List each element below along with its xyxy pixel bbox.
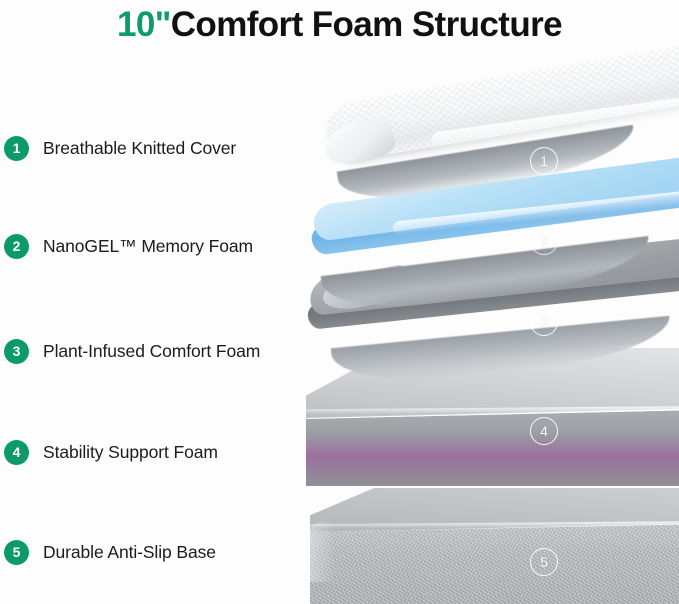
slab-badge-4: 4	[530, 417, 558, 445]
layer-4-front-face	[306, 410, 679, 486]
legend-item-3[interactable]: 3 Plant-Infused Comfort Foam	[4, 337, 260, 365]
legend-item-5[interactable]: 5 Durable Anti-Slip Base	[4, 538, 216, 566]
foam-stack-illustration	[280, 80, 679, 604]
legend-list: 1 Breathable Knitted Cover 2 NanoGEL™ Me…	[0, 0, 320, 604]
slab-badge-1: 1	[530, 147, 558, 175]
legend-label-3: Plant-Infused Comfort Foam	[43, 341, 260, 362]
layer-5-corner-highlight	[309, 522, 335, 582]
legend-item-4[interactable]: 4 Stability Support Foam	[4, 438, 218, 466]
legend-badge-4: 4	[4, 440, 29, 465]
foam-layer-2-nanogel-memory-foam	[302, 198, 679, 303]
legend-item-1[interactable]: 1 Breathable Knitted Cover	[4, 134, 236, 162]
legend-label-2: NanoGEL™ Memory Foam	[43, 236, 253, 257]
legend-badge-1: 1	[4, 136, 29, 161]
legend-badge-3: 3	[4, 339, 29, 364]
legend-badge-5: 5	[4, 540, 29, 565]
legend-label-1: Breathable Knitted Cover	[43, 138, 236, 159]
infographic-page: 10"Comfort Foam Structure	[0, 0, 679, 604]
legend-item-2[interactable]: 2 NanoGEL™ Memory Foam	[4, 232, 253, 260]
foam-layer-5-durable-anti-slip-base	[310, 488, 679, 604]
legend-label-5: Durable Anti-Slip Base	[43, 542, 216, 563]
layer-5-front-face	[310, 524, 679, 604]
legend-badge-2: 2	[4, 234, 29, 259]
slab-badge-3: 3	[530, 308, 558, 336]
slab-badge-5: 5	[530, 548, 558, 576]
legend-label-4: Stability Support Foam	[43, 442, 218, 463]
layer-3-shadow	[331, 316, 673, 388]
slab-badge-2: 2	[530, 227, 558, 255]
